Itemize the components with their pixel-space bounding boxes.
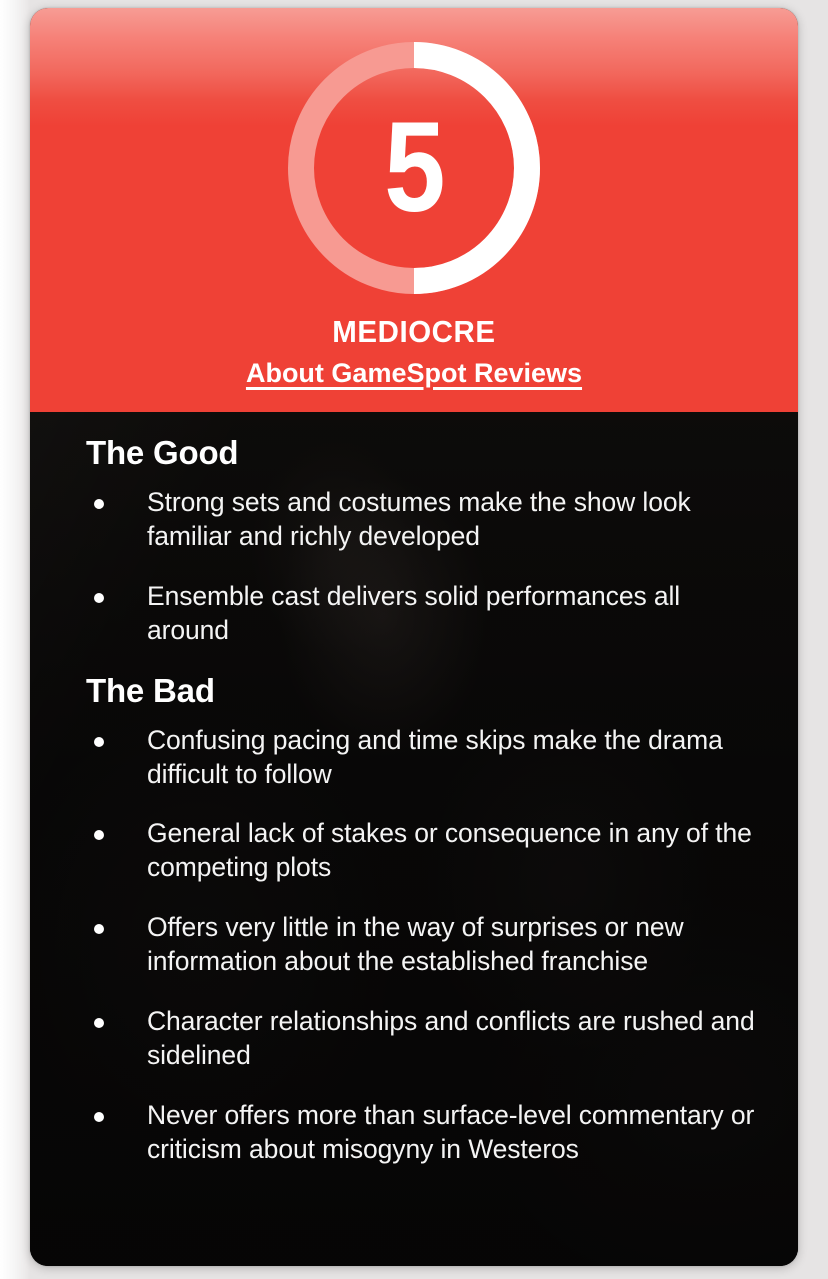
list-item-text: Offers very little in the way of surpris… xyxy=(147,912,684,976)
the-good-heading: The Good xyxy=(56,412,774,472)
review-body: The Good Strong sets and costumes make t… xyxy=(30,412,798,1266)
the-bad-list: Confusing pacing and time skips make the… xyxy=(56,710,774,1167)
list-item-text: Ensemble cast delivers solid performance… xyxy=(147,581,680,645)
score-header: 5 MEDIOCRE About GameSpot Reviews xyxy=(30,8,798,412)
the-bad-heading: The Bad xyxy=(56,648,774,710)
bullet-icon xyxy=(94,1018,104,1028)
bullet-icon xyxy=(94,737,104,747)
list-item: Strong sets and costumes make the show l… xyxy=(56,486,774,554)
list-item: Never offers more than surface-level com… xyxy=(56,1099,774,1167)
list-item: Confusing pacing and time skips make the… xyxy=(56,724,774,792)
list-item-text: Never offers more than surface-level com… xyxy=(147,1100,754,1164)
review-score-card: 5 MEDIOCRE About GameSpot Reviews The Go… xyxy=(30,8,798,1266)
list-item-text: Character relationships and conflicts ar… xyxy=(147,1006,755,1070)
score-value: 5 xyxy=(306,42,523,294)
the-good-list: Strong sets and costumes make the show l… xyxy=(56,472,774,648)
list-item-text: General lack of stakes or consequence in… xyxy=(147,818,752,882)
list-item-text: Confusing pacing and time skips make the… xyxy=(147,725,723,789)
bullet-icon xyxy=(94,499,104,509)
list-item: Character relationships and conflicts ar… xyxy=(56,1005,774,1073)
bullet-icon xyxy=(94,593,104,603)
list-item: General lack of stakes or consequence in… xyxy=(56,817,774,885)
score-ring: 5 xyxy=(288,42,540,294)
list-item-text: Strong sets and costumes make the show l… xyxy=(147,487,691,551)
bullet-icon xyxy=(94,1112,104,1122)
list-item: Ensemble cast delivers solid performance… xyxy=(56,580,774,648)
list-item: Offers very little in the way of surpris… xyxy=(56,911,774,979)
score-verdict-label: MEDIOCRE xyxy=(332,314,495,350)
bullet-icon xyxy=(94,924,104,934)
bullet-icon xyxy=(94,830,104,840)
about-gamespot-reviews-link[interactable]: About GameSpot Reviews xyxy=(246,358,582,389)
